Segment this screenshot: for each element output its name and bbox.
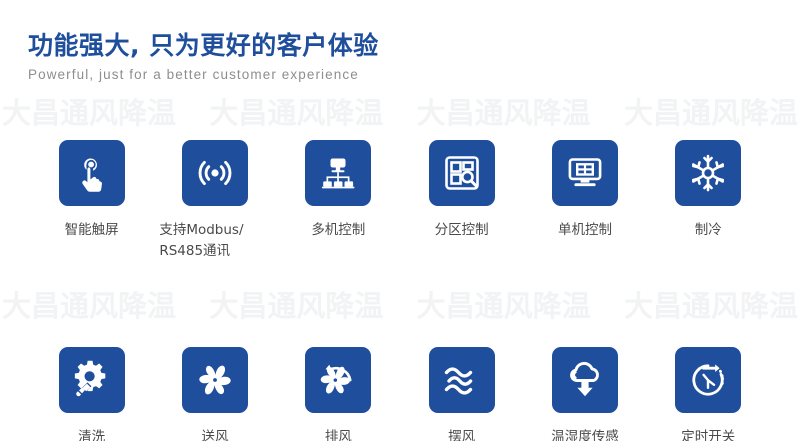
feature-item-zone-control[interactable]: 分区控制 bbox=[400, 140, 523, 262]
feature-label: 送风 bbox=[201, 427, 228, 441]
watermark-text: 大昌通风降温 bbox=[624, 90, 798, 132]
page-subtitle: Powerful, just for a better customer exp… bbox=[28, 67, 379, 82]
feature-item-timer-switch[interactable]: 定时开关 bbox=[647, 347, 770, 441]
feature-tile bbox=[59, 347, 125, 413]
network-tree-icon bbox=[317, 152, 359, 194]
page-header: 功能强大, 只为更好的客户体验 Powerful, just for a bet… bbox=[28, 30, 379, 82]
page-title: 功能强大, 只为更好的客户体验 bbox=[28, 30, 379, 61]
feature-label: 摆风 bbox=[448, 427, 475, 441]
feature-tile bbox=[182, 140, 248, 206]
feature-row: 智能触屏 支持Modbus/ RS485通讯 bbox=[0, 140, 800, 262]
watermark-text: 大昌通风降温 bbox=[2, 90, 176, 132]
wireless-signal-icon bbox=[194, 152, 236, 194]
feature-tile bbox=[429, 140, 495, 206]
feature-tile bbox=[59, 140, 125, 206]
feature-tile bbox=[429, 347, 495, 413]
fan-icon bbox=[194, 359, 236, 401]
feature-tile bbox=[305, 347, 371, 413]
feature-tile bbox=[182, 347, 248, 413]
feature-item-touch-screen[interactable]: 智能触屏 bbox=[30, 140, 153, 262]
feature-item-multi-machine-control[interactable]: 多机控制 bbox=[277, 140, 400, 262]
zone-grid-search-icon bbox=[441, 152, 483, 194]
feature-tile bbox=[675, 140, 741, 206]
feature-label: 定时开关 bbox=[681, 427, 735, 441]
feature-tile bbox=[305, 140, 371, 206]
fan-exhaust-icon bbox=[317, 359, 359, 401]
watermark-text: 大昌通风降温 bbox=[209, 90, 383, 132]
feature-label: 温湿度传感 bbox=[551, 427, 619, 441]
feature-item-modbus[interactable]: 支持Modbus/ RS485通讯 bbox=[153, 140, 276, 262]
feature-label: 单机控制 bbox=[558, 220, 612, 241]
feature-item-swing[interactable]: 摆风 bbox=[400, 347, 523, 441]
feature-tile bbox=[552, 347, 618, 413]
feature-label: 多机控制 bbox=[311, 220, 365, 241]
cloud-humidity-icon bbox=[564, 359, 606, 401]
feature-item-single-machine-control[interactable]: 单机控制 bbox=[523, 140, 646, 262]
feature-label: 清洗 bbox=[78, 427, 105, 441]
feature-label: 支持Modbus/ RS485通讯 bbox=[153, 220, 276, 262]
gear-brush-icon bbox=[71, 359, 113, 401]
watermark-row-top: 大昌通风降温 大昌通风降温 大昌通风降温 大昌通风降温 bbox=[0, 90, 800, 132]
feature-grid: 智能触屏 支持Modbus/ RS485通讯 bbox=[0, 140, 800, 441]
monitor-icon bbox=[564, 152, 606, 194]
feature-label: 分区控制 bbox=[435, 220, 489, 241]
feature-item-cooling[interactable]: 制冷 bbox=[647, 140, 770, 262]
touch-screen-icon bbox=[72, 153, 112, 193]
feature-item-air-supply[interactable]: 送风 bbox=[153, 347, 276, 441]
timer-clock-icon bbox=[687, 359, 729, 401]
feature-item-temp-humidity-sensor[interactable]: 温湿度传感 bbox=[523, 347, 646, 441]
feature-highlight-page: 大昌通风降温 大昌通风降温 大昌通风降温 大昌通风降温 大昌通风降温 大昌通风降… bbox=[0, 0, 800, 441]
feature-label: 排风 bbox=[325, 427, 352, 441]
feature-label: 智能触屏 bbox=[65, 220, 119, 241]
air-wave-icon bbox=[441, 359, 483, 401]
snowflake-icon bbox=[687, 152, 729, 194]
feature-tile bbox=[675, 347, 741, 413]
feature-tile bbox=[552, 140, 618, 206]
feature-row: 清洗 送风 bbox=[0, 347, 800, 441]
feature-item-exhaust[interactable]: 排风 bbox=[277, 347, 400, 441]
watermark-text: 大昌通风降温 bbox=[417, 90, 591, 132]
feature-item-cleaning[interactable]: 清洗 bbox=[30, 347, 153, 441]
feature-label: 制冷 bbox=[695, 220, 722, 241]
